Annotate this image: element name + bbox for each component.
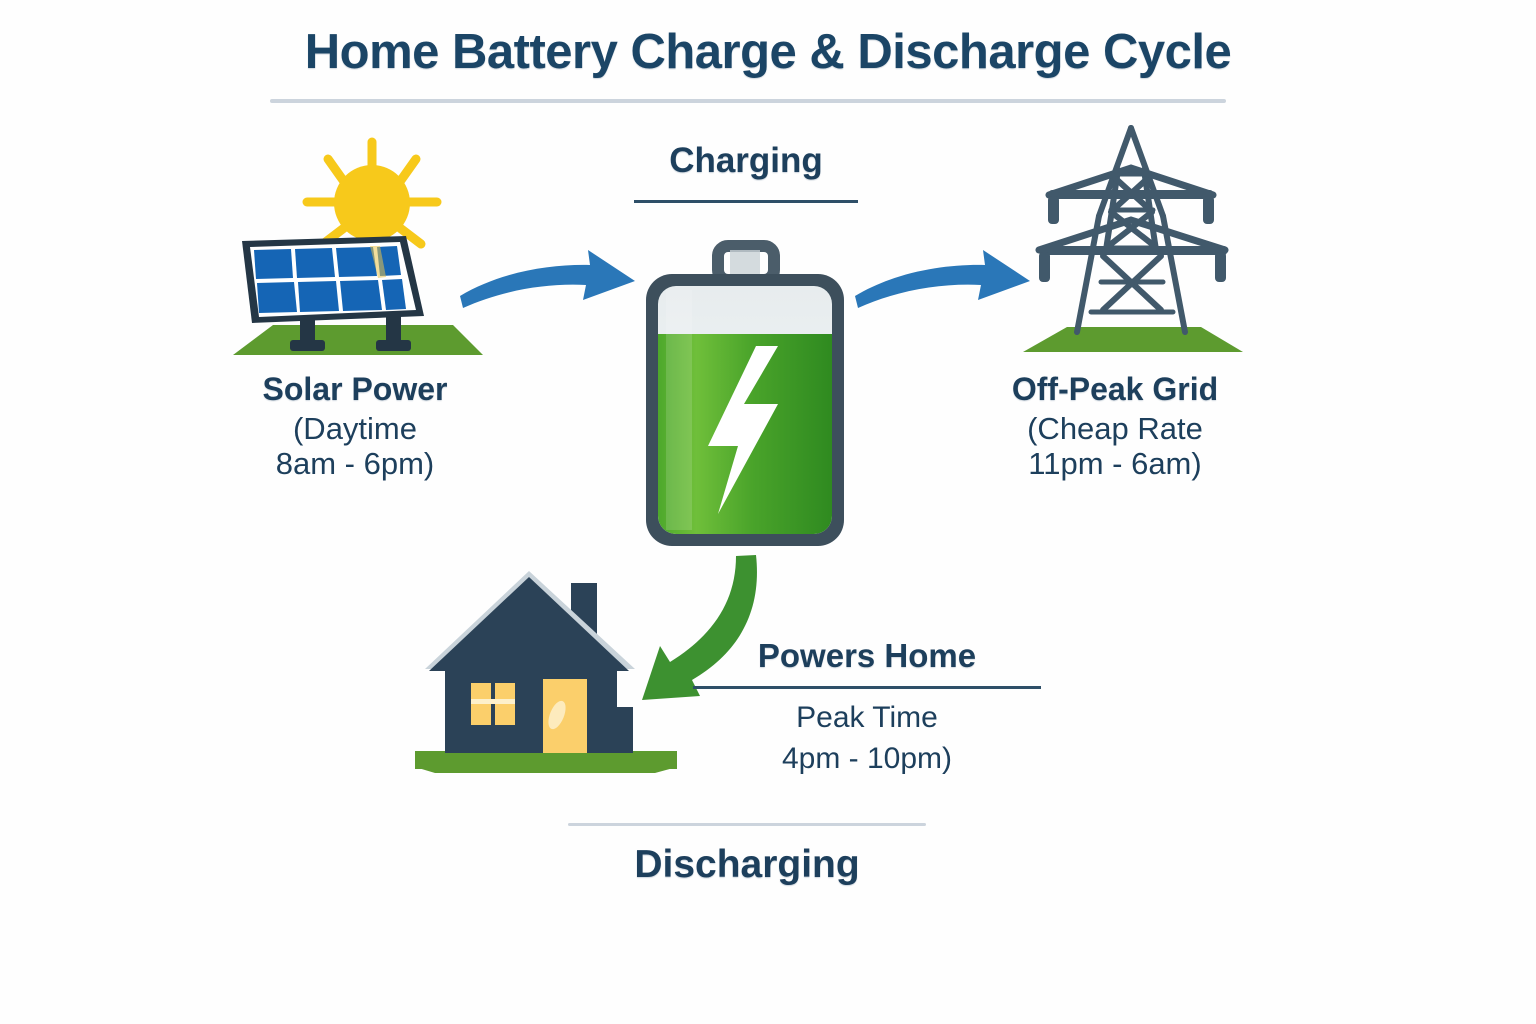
discharging-section-divider xyxy=(568,823,926,826)
grid-caption: Off-Peak Grid (Cheap Rate 11pm - 6am) xyxy=(975,372,1255,481)
solar-title: Solar Power xyxy=(215,372,495,408)
powers-home-line-2: 4pm - 10pm) xyxy=(693,739,1041,780)
grid-line-2: 11pm - 6am) xyxy=(975,447,1255,482)
arrow-solar-to-battery xyxy=(455,248,645,333)
infographic-canvas: Home Battery Charge & Discharge Cycle Ch… xyxy=(0,0,1536,1024)
battery-charging-icon xyxy=(630,238,860,558)
solar-line-1: (Daytime xyxy=(215,412,495,447)
house-icon xyxy=(415,555,680,795)
charging-section-divider xyxy=(634,200,858,203)
grid-title: Off-Peak Grid xyxy=(975,372,1255,408)
solar-caption: Solar Power (Daytime 8am - 6pm) xyxy=(215,372,495,481)
grid-line-1: (Cheap Rate xyxy=(975,412,1255,447)
page-title: Home Battery Charge & Discharge Cycle xyxy=(0,24,1536,80)
power-transmission-tower-icon xyxy=(1015,120,1250,360)
discharging-section-label: Discharging xyxy=(568,843,926,887)
title-divider xyxy=(270,99,1226,103)
powers-home-title: Powers Home xyxy=(693,637,1041,675)
powers-home-divider xyxy=(693,686,1041,689)
solar-panel-icon xyxy=(228,130,488,360)
solar-line-2: 8am - 6pm) xyxy=(215,447,495,482)
powers-home-line-1: Peak Time xyxy=(693,698,1041,739)
charging-section-label: Charging xyxy=(634,141,858,181)
arrow-battery-to-grid xyxy=(850,248,1040,333)
powers-home-subtext: Peak Time 4pm - 10pm) xyxy=(693,698,1041,779)
